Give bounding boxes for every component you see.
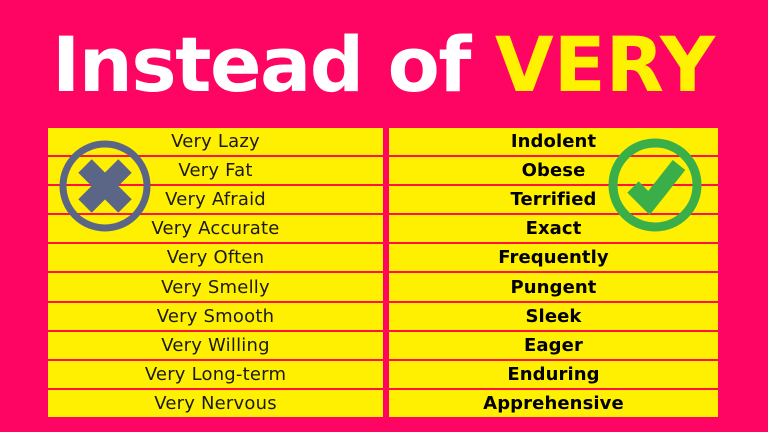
cell-replacement-word: Pungent [389, 273, 718, 300]
cell-very-phrase: Very Fat [48, 157, 383, 184]
cell-replacement-word: Apprehensive [389, 390, 718, 417]
cell-replacement-word: Indolent [389, 128, 718, 155]
synonyms-table: Very LazyIndolentVery FatObeseVery Afrai… [48, 128, 718, 417]
cell-very-phrase: Very Lazy [48, 128, 383, 155]
cell-replacement-word: Sleek [389, 303, 718, 330]
cell-replacement-word: Eager [389, 332, 718, 359]
cell-replacement-word: Enduring [389, 361, 718, 388]
table-row: Very SmellyPungent [48, 273, 718, 302]
cell-very-phrase: Very Long-term [48, 361, 383, 388]
cell-replacement-word: Obese [389, 157, 718, 184]
synonyms-table-container: Very LazyIndolentVery FatObeseVery Afrai… [48, 128, 718, 417]
table-row: Very NervousApprehensive [48, 390, 718, 417]
cell-replacement-word: Terrified [389, 186, 718, 213]
table-row: Very SmoothSleek [48, 303, 718, 332]
cell-replacement-word: Exact [389, 215, 718, 242]
cell-very-phrase: Very Smooth [48, 303, 383, 330]
table-row: Very OftenFrequently [48, 244, 718, 273]
cell-very-phrase: Very Willing [48, 332, 383, 359]
cell-very-phrase: Very Accurate [48, 215, 383, 242]
table-row: Very LazyIndolent [48, 128, 718, 157]
slide-canvas: Instead of VERY Very LazyIndolentVery Fa… [0, 0, 768, 432]
cell-very-phrase: Very Smelly [48, 273, 383, 300]
table-row: Very FatObese [48, 157, 718, 186]
page-title: Instead of VERY [52, 15, 732, 115]
table-row: Very AfraidTerrified [48, 186, 718, 215]
cell-very-phrase: Very Often [48, 244, 383, 271]
table-row: Very WillingEager [48, 332, 718, 361]
title-text-white: Instead of [52, 20, 495, 109]
table-row: Very Long-termEnduring [48, 361, 718, 390]
cell-very-phrase: Very Nervous [48, 390, 383, 417]
title-text-highlight: VERY [495, 20, 715, 109]
cell-replacement-word: Frequently [389, 244, 718, 271]
table-row: Very AccurateExact [48, 215, 718, 244]
cell-very-phrase: Very Afraid [48, 186, 383, 213]
